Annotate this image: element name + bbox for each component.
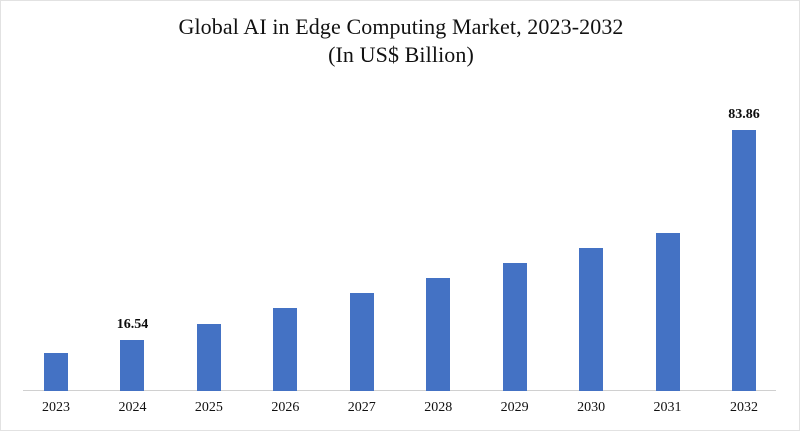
bar-2028[interactable] xyxy=(426,111,450,391)
x-tick-2023: 2023 xyxy=(21,400,91,416)
bar-rect-2031[interactable] xyxy=(656,233,680,391)
chart-figure: Global AI in Edge Computing Market, 2023… xyxy=(0,0,800,431)
x-tick-2026: 2026 xyxy=(250,400,320,416)
x-tick-2025: 2025 xyxy=(174,400,244,416)
x-tick-2024: 2024 xyxy=(97,400,167,416)
x-tick-2027: 2027 xyxy=(327,400,397,416)
bar-rect-2032[interactable] xyxy=(732,130,756,391)
x-tick-2032: 2032 xyxy=(709,400,779,416)
bar-2027[interactable] xyxy=(350,111,374,391)
bar-value-label-2024: 16.54 xyxy=(117,317,149,333)
x-tick-2029: 2029 xyxy=(480,400,550,416)
bar-2026[interactable] xyxy=(273,111,297,391)
plot-area: 16.5483.86 20232024202520262027202820292… xyxy=(1,1,800,431)
bar-2024[interactable]: 16.54 xyxy=(120,111,144,391)
bar-rect-2025[interactable] xyxy=(197,324,221,391)
bar-rect-2029[interactable] xyxy=(503,263,527,391)
bar-2029[interactable] xyxy=(503,111,527,391)
bar-2032[interactable]: 83.86 xyxy=(732,111,756,391)
bar-value-label-2032: 83.86 xyxy=(728,107,760,123)
bar-2030[interactable] xyxy=(579,111,603,391)
bar-rect-2023[interactable] xyxy=(44,353,68,391)
x-tick-2028: 2028 xyxy=(403,400,473,416)
x-tick-2030: 2030 xyxy=(556,400,626,416)
bar-rect-2026[interactable] xyxy=(273,308,297,391)
bar-rect-2024[interactable] xyxy=(120,340,144,391)
bar-rect-2030[interactable] xyxy=(579,248,603,391)
bar-rect-2027[interactable] xyxy=(350,293,374,391)
x-tick-2031: 2031 xyxy=(633,400,703,416)
bar-2025[interactable] xyxy=(197,111,221,391)
bar-2023[interactable] xyxy=(44,111,68,391)
bar-rect-2028[interactable] xyxy=(426,278,450,391)
bar-2031[interactable] xyxy=(656,111,680,391)
